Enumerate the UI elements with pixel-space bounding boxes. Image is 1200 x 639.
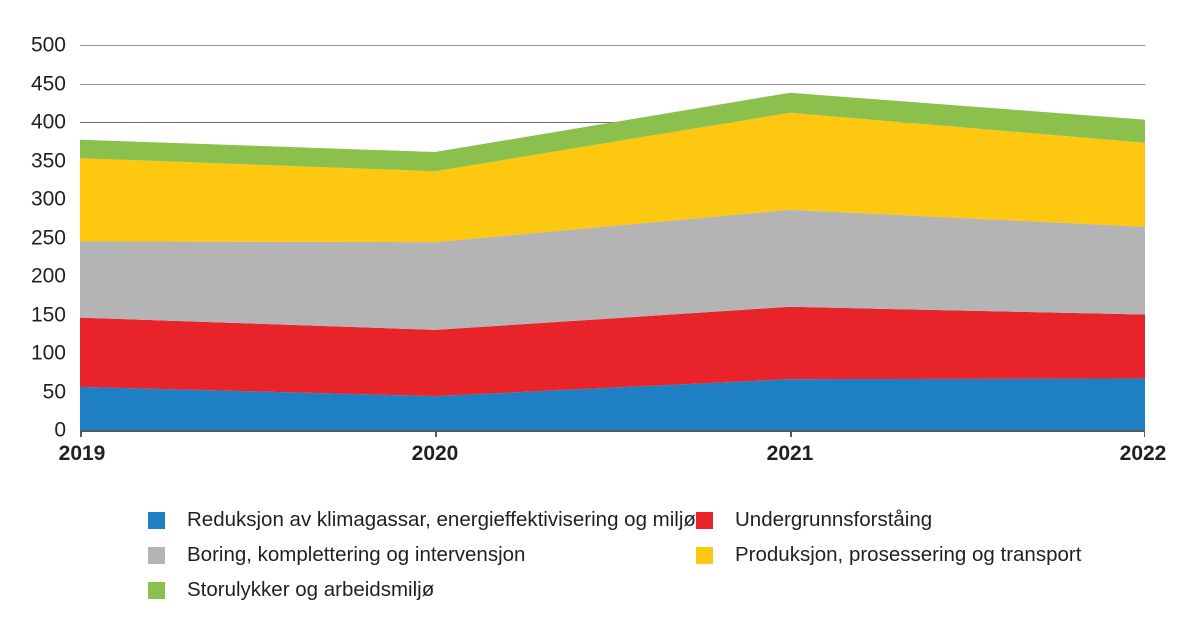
legend-item[interactable]: Boring, komplettering og intervensjon (148, 540, 696, 570)
y-axis-tick-label: 50 (0, 381, 66, 402)
x-axis-tick-label: 2019 (59, 443, 106, 464)
x-axis-tick-mark (80, 430, 82, 437)
y-axis-tick-label: 300 (0, 189, 66, 210)
legend-item[interactable]: Undergrunnsforståing (696, 505, 1126, 535)
y-axis-tick-label: 350 (0, 150, 66, 171)
y-axis-tick-label: 100 (0, 343, 66, 364)
legend-item-label: Storulykker og arbeidsmiljø (187, 580, 434, 601)
legend-item-label: Reduksjon av klimagassar, energieffektiv… (187, 510, 696, 531)
legend-swatch-icon (148, 512, 165, 529)
legend-row: Storulykker og arbeidsmiljø (148, 575, 1148, 610)
y-axis-tick-label: 500 (0, 35, 66, 56)
chart-plot-region: 050100150200250300350400450500 201920202… (0, 0, 1200, 480)
legend-swatch-icon (148, 547, 165, 564)
legend-swatch-icon (696, 547, 713, 564)
legend-row: Reduksjon av klimagassar, energieffektiv… (148, 505, 1148, 540)
x-axis-tick-mark (435, 430, 437, 437)
y-axis-tick-label: 200 (0, 266, 66, 287)
legend-item-label: Produksjon, prosessering og transport (735, 545, 1081, 566)
legend-swatch-icon (148, 582, 165, 599)
y-axis-tick-label: 450 (0, 73, 66, 94)
y-axis-tick-label: 250 (0, 227, 66, 248)
x-axis-tick-mark (1144, 430, 1146, 437)
y-axis-tick-label: 400 (0, 112, 66, 133)
x-axis-line (80, 430, 1145, 432)
y-axis-tick-label: 150 (0, 304, 66, 325)
legend-item[interactable]: Storulykker og arbeidsmiljø (148, 575, 696, 605)
legend-swatch-icon (696, 512, 713, 529)
area-series-svg (80, 45, 1145, 430)
x-axis-tick-label: 2020 (412, 443, 459, 464)
legend-item-label: Boring, komplettering og intervensjon (187, 545, 525, 566)
legend-row: Boring, komplettering og intervensjonPro… (148, 540, 1148, 575)
x-axis-tick-label: 2022 (1120, 443, 1167, 464)
stacked-area-plot (80, 45, 1145, 430)
legend-item-empty (696, 575, 1126, 605)
chart-legend: Reduksjon av klimagassar, energieffektiv… (148, 505, 1148, 610)
legend-item[interactable]: Produksjon, prosessering og transport (696, 540, 1126, 570)
x-axis-tick-mark (790, 430, 792, 437)
chart-root: 050100150200250300350400450500 201920202… (0, 0, 1200, 639)
y-axis-tick-label: 0 (0, 420, 66, 441)
x-axis-tick-label: 2021 (767, 443, 814, 464)
legend-item[interactable]: Reduksjon av klimagassar, energieffektiv… (148, 505, 696, 535)
legend-item-label: Undergrunnsforståing (735, 510, 932, 531)
